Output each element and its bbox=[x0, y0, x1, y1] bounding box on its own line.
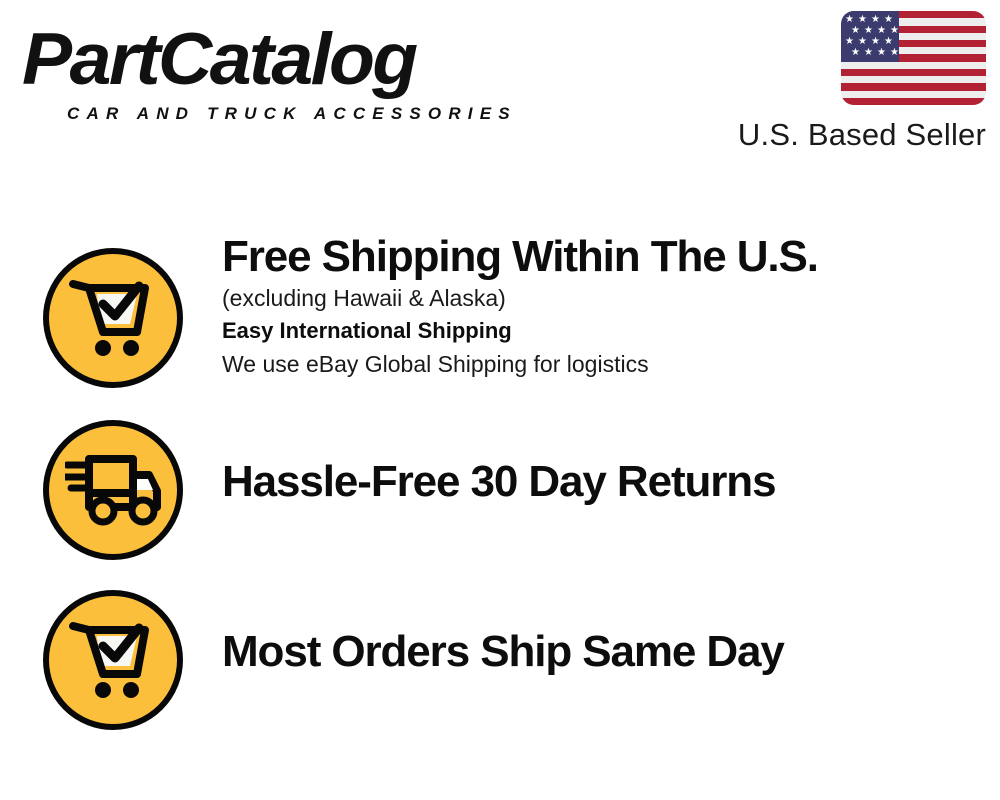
flag-star: ★ bbox=[890, 26, 899, 36]
feature-heading: Most Orders Ship Same Day bbox=[222, 627, 982, 677]
feature-sub-strong: Easy International Shipping bbox=[222, 314, 982, 348]
shopping-cart-check-icon bbox=[43, 590, 183, 730]
seller-badge-label: U.S. Based Seller bbox=[738, 117, 986, 153]
flag-star: ★ bbox=[845, 15, 854, 25]
delivery-truck-icon bbox=[43, 420, 183, 560]
flag-star: ★ bbox=[877, 48, 886, 58]
flag-stripe bbox=[841, 69, 986, 76]
feature-row: Most Orders Ship Same Day bbox=[0, 582, 1000, 752]
feature-text: Most Orders Ship Same Day bbox=[222, 627, 982, 677]
flag-star: ★ bbox=[864, 48, 873, 58]
brand-wordmark: PartCatalog bbox=[22, 18, 416, 101]
brand-tagline: CAR AND TRUCK ACCESSORIES bbox=[67, 104, 517, 124]
flag-stripe bbox=[841, 83, 986, 90]
feature-sub: We use eBay Global Shipping for logistic… bbox=[222, 348, 982, 380]
flag-star: ★ bbox=[864, 26, 873, 36]
flag-star: ★ bbox=[845, 37, 854, 47]
feature-text: Hassle-Free 30 Day Returns bbox=[222, 457, 982, 507]
flag-canton: ★ ★ ★ ★ ★ ★ ★ ★ ★ ★ ★ ★ ★ ★ ★ ★ bbox=[841, 11, 899, 62]
feature-row: Free Shipping Within The U.S. (excluding… bbox=[0, 240, 1000, 410]
flag-stripe bbox=[841, 98, 986, 105]
feature-note: (excluding Hawaii & Alaska) bbox=[222, 282, 982, 314]
flag-star: ★ bbox=[877, 26, 886, 36]
flag-star: ★ bbox=[890, 48, 899, 58]
us-flag-icon: ★ ★ ★ ★ ★ ★ ★ ★ ★ ★ ★ ★ ★ ★ ★ ★ bbox=[841, 11, 986, 105]
flag-star: ★ bbox=[871, 15, 880, 25]
feature-heading: Free Shipping Within The U.S. bbox=[222, 232, 982, 282]
shopping-cart-check-icon bbox=[43, 248, 183, 388]
feature-row: Hassle-Free 30 Day Returns bbox=[0, 412, 1000, 582]
flag-star: ★ bbox=[851, 48, 860, 58]
flag-star: ★ bbox=[858, 37, 867, 47]
header-banner: PartCatalog CAR AND TRUCK ACCESSORIES ★ … bbox=[0, 0, 1000, 180]
feature-heading: Hassle-Free 30 Day Returns bbox=[222, 457, 982, 507]
brand-logo[interactable]: PartCatalog CAR AND TRUCK ACCESSORIES bbox=[22, 22, 492, 118]
flag-star: ★ bbox=[871, 37, 880, 47]
feature-text: Free Shipping Within The U.S. (excluding… bbox=[222, 232, 982, 380]
flag-star: ★ bbox=[884, 15, 893, 25]
flag-star: ★ bbox=[851, 26, 860, 36]
flag-star: ★ bbox=[884, 37, 893, 47]
flag-star: ★ bbox=[858, 15, 867, 25]
